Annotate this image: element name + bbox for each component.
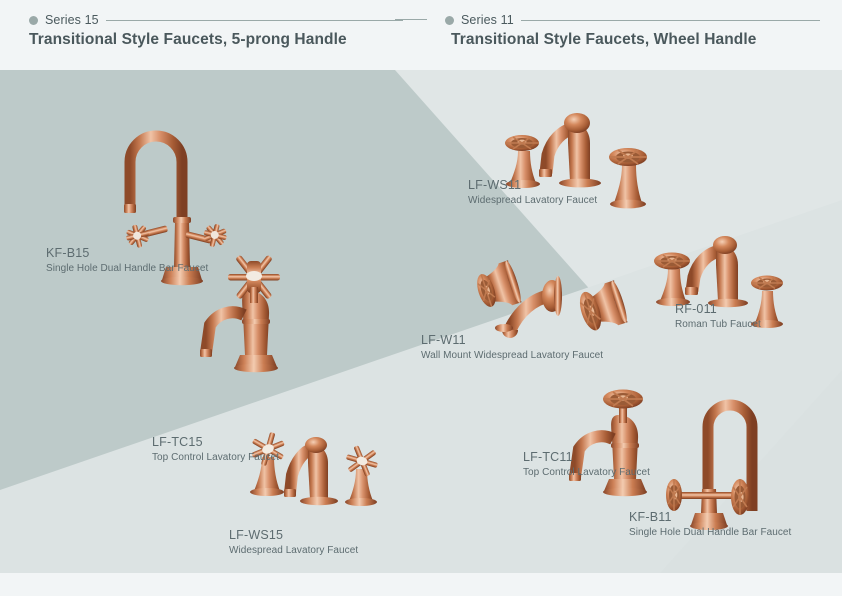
product-code-kf-b11: KF-B11 bbox=[629, 510, 791, 524]
product-desc-lf-ws15: Widespread Lavatory Faucet bbox=[229, 545, 358, 556]
series-11-rule bbox=[521, 20, 820, 21]
product-code-lf-ws11: LF-WS11 bbox=[468, 178, 597, 192]
product-code-lf-tc11: LF-TC11 bbox=[523, 450, 650, 464]
series-15-label: Series 15 bbox=[45, 13, 99, 27]
product-stage: KF-B15 Single Hole Dual Handle Bar Fauce… bbox=[0, 70, 842, 573]
series-11-label: Series 11 bbox=[461, 13, 514, 27]
product-code-lf-w11: LF-W11 bbox=[421, 333, 603, 347]
product-label-lf-w11: LF-W11 Wall Mount Widespread Lavatory Fa… bbox=[421, 333, 603, 361]
product-label-kf-b15: KF-B15 Single Hole Dual Handle Bar Fauce… bbox=[46, 246, 208, 274]
product-code-lf-tc15: LF-TC15 bbox=[152, 435, 279, 449]
page-footer bbox=[0, 573, 842, 596]
product-code-rf-011: RF-011 bbox=[675, 302, 761, 316]
product-label-rf-011: RF-011 Roman Tub Faucet bbox=[675, 302, 761, 330]
series-15-row: Series 15 bbox=[29, 13, 403, 27]
product-label-kf-b11: KF-B11 Single Hole Dual Handle Bar Fauce… bbox=[629, 510, 791, 538]
bullet-icon bbox=[445, 16, 454, 25]
series-11-row: Series 11 bbox=[445, 13, 820, 27]
product-code-lf-ws15: LF-WS15 bbox=[229, 528, 358, 542]
product-label-lf-tc11: LF-TC11 Top Control Lavatory Faucet bbox=[523, 450, 650, 478]
product-desc-rf-011: Roman Tub Faucet bbox=[675, 319, 761, 330]
page-header: Series 15 Transitional Style Faucets, 5-… bbox=[0, 0, 842, 70]
catalog-page: Series 15 Transitional Style Faucets, 5-… bbox=[0, 0, 842, 596]
product-label-lf-ws15: LF-WS15 Widespread Lavatory Faucet bbox=[229, 528, 358, 556]
series-15-rule bbox=[106, 20, 403, 21]
product-image-kf-b11 bbox=[690, 385, 800, 530]
product-desc-lf-w11: Wall Mount Widespread Lavatory Faucet bbox=[421, 350, 603, 361]
product-desc-lf-ws11: Widespread Lavatory Faucet bbox=[468, 195, 597, 206]
product-desc-kf-b11: Single Hole Dual Handle Bar Faucet bbox=[629, 527, 791, 538]
product-label-lf-tc15: LF-TC15 Top Control Lavatory Faucet bbox=[152, 435, 279, 463]
series-15-title: Transitional Style Faucets, 5-prong Hand… bbox=[29, 31, 347, 49]
bullet-icon bbox=[29, 16, 38, 25]
product-code-kf-b15: KF-B15 bbox=[46, 246, 208, 260]
header-column-series-15: Series 15 Transitional Style Faucets, 5-… bbox=[0, 0, 421, 70]
series-11-title: Transitional Style Faucets, Wheel Handle bbox=[451, 31, 756, 49]
product-desc-kf-b15: Single Hole Dual Handle Bar Faucet bbox=[46, 263, 208, 274]
product-desc-lf-tc11: Top Control Lavatory Faucet bbox=[523, 467, 650, 478]
product-desc-lf-tc15: Top Control Lavatory Faucet bbox=[152, 452, 279, 463]
product-label-lf-ws11: LF-WS11 Widespread Lavatory Faucet bbox=[468, 178, 597, 206]
product-image-lf-tc15 bbox=[196, 253, 306, 373]
